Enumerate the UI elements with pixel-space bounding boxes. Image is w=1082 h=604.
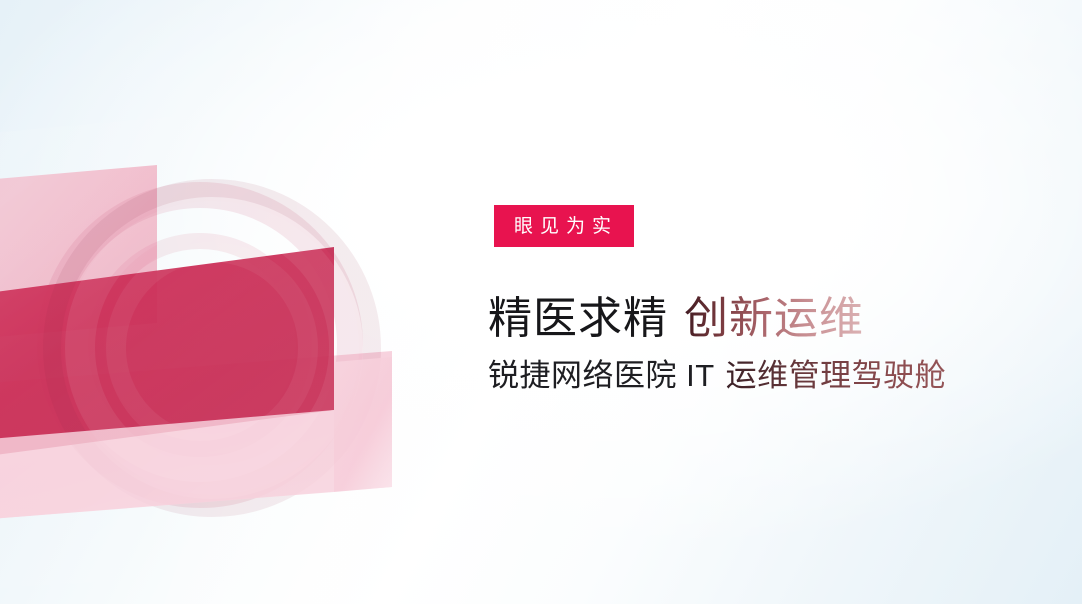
artwork-sheen xyxy=(0,90,470,600)
slide-canvas: 眼见为实 精医求精创新运维 锐捷网络医院 IT运维管理驾驶舱 xyxy=(0,0,1082,604)
subheadline: 锐捷网络医院 IT运维管理驾驶舱 xyxy=(488,357,946,394)
decorative-artwork xyxy=(0,0,470,604)
subheadline-dark-segment: 锐捷网络医院 IT xyxy=(488,358,715,393)
headline: 精医求精创新运维 xyxy=(488,294,864,343)
text-block: 眼见为实 精医求精创新运维 锐捷网络医院 IT运维管理驾驶舱 xyxy=(488,0,1048,604)
headline-gradient-segment: 创新运维 xyxy=(684,294,864,343)
eyebrow-badge-label: 眼见为实 xyxy=(514,217,618,236)
headline-dark-segment: 精医求精 xyxy=(488,294,668,343)
eyebrow-badge: 眼见为实 xyxy=(494,205,634,247)
subheadline-gradient-segment: 运维管理驾驶舱 xyxy=(726,358,947,393)
